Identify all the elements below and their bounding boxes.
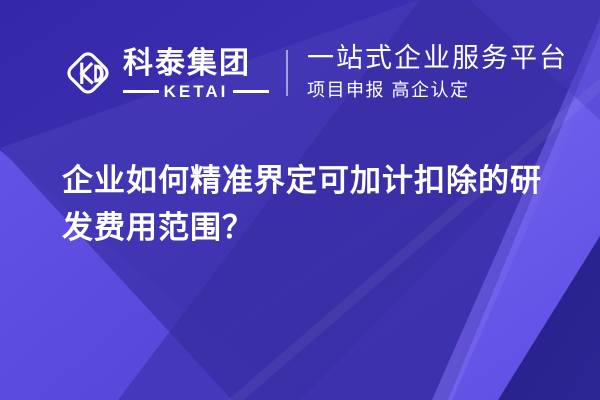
brand-name-en-row: KETAI (123, 83, 269, 100)
brand-name-cn: 科泰集团 (123, 48, 269, 80)
ketai-diamond-kd-monogram-icon (62, 47, 114, 99)
tagline-primary: 一站式企业服务平台 (307, 43, 568, 74)
tagline-secondary: 项目申报 高企认定 (307, 79, 568, 102)
header-tagline: 一站式企业服务平台 项目申报 高企认定 (307, 43, 568, 102)
banner-header: 科泰集团 KETAI 一站式企业服务平台 项目申报 高企认定 (62, 34, 568, 112)
brand-name-en: KETAI (159, 83, 234, 100)
wordmark-dash-right (233, 90, 269, 93)
header-divider (286, 50, 288, 96)
promo-banner: 科泰集团 KETAI 一站式企业服务平台 项目申报 高企认定 企业如何精准界定可… (0, 0, 600, 400)
brand-wordmark: 科泰集团 KETAI (123, 46, 269, 100)
page-title: 企业如何精准界定可加计扣除的研发费用范围？ (62, 157, 570, 251)
brand-logo[interactable]: 科泰集团 KETAI (62, 46, 269, 100)
wordmark-dash-left (123, 90, 159, 93)
